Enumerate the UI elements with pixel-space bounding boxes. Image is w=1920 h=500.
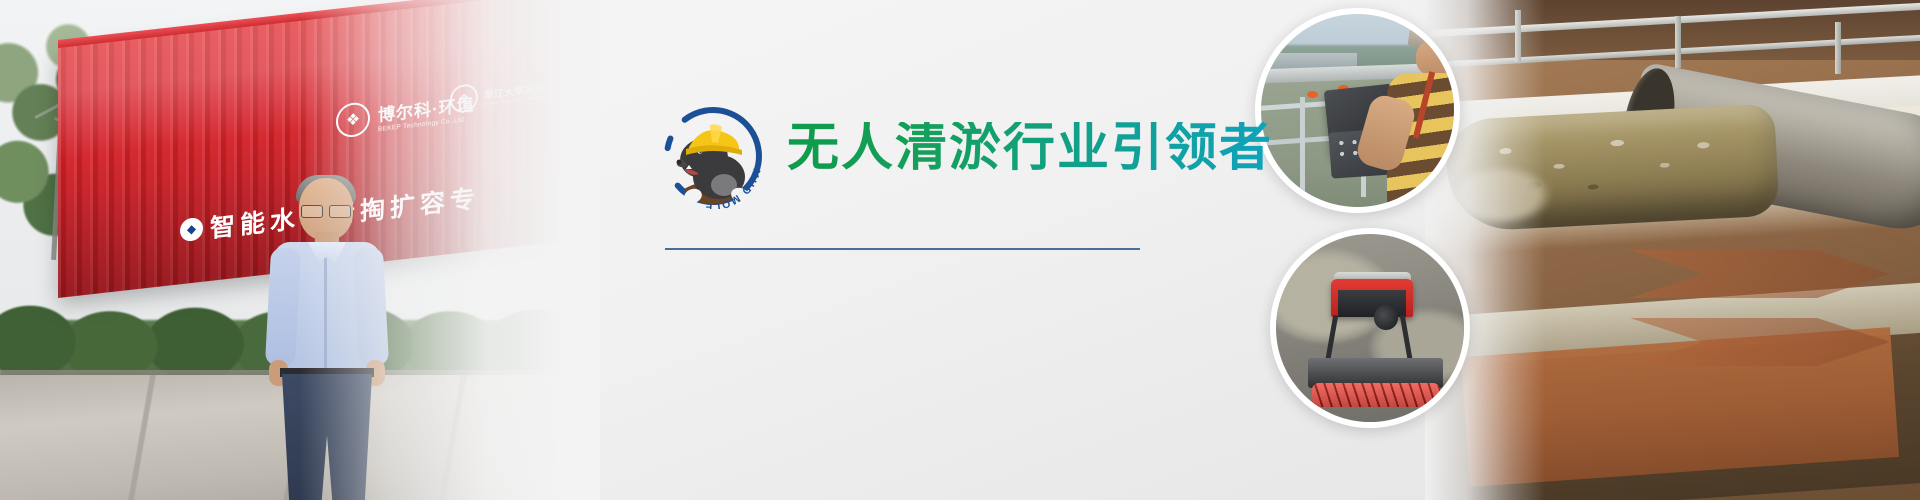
mud-mole-logo: MUD MOLE xyxy=(660,103,766,209)
headline-text: 无人清淤行业引领者 xyxy=(787,122,1273,174)
robot-wheel xyxy=(1374,305,1398,329)
operator-head xyxy=(1416,39,1459,77)
slogan-badge-icon: ◆ xyxy=(180,216,203,242)
robot-auger xyxy=(1312,383,1440,407)
mud-mole-logo-svg: MUD MOLE xyxy=(660,103,766,209)
hero-banner: ❖ 博尔科·环境 BEKEP Technology Co.,Ltd ❖ 浙江大学… xyxy=(0,0,1920,500)
circle1-operator xyxy=(1377,22,1460,211)
auger-flighting xyxy=(1312,383,1440,407)
right-sludge-photo xyxy=(1425,0,1920,500)
center-content: MUD MOLE 无人清淤行业引领者 xyxy=(555,0,1315,500)
left-container-photo: ❖ 博尔科·环境 BEKEP Technology Co.,Ltd ❖ 浙江大学… xyxy=(0,0,600,500)
headline-divider xyxy=(665,248,1140,250)
person-left-sleeve xyxy=(265,247,301,366)
